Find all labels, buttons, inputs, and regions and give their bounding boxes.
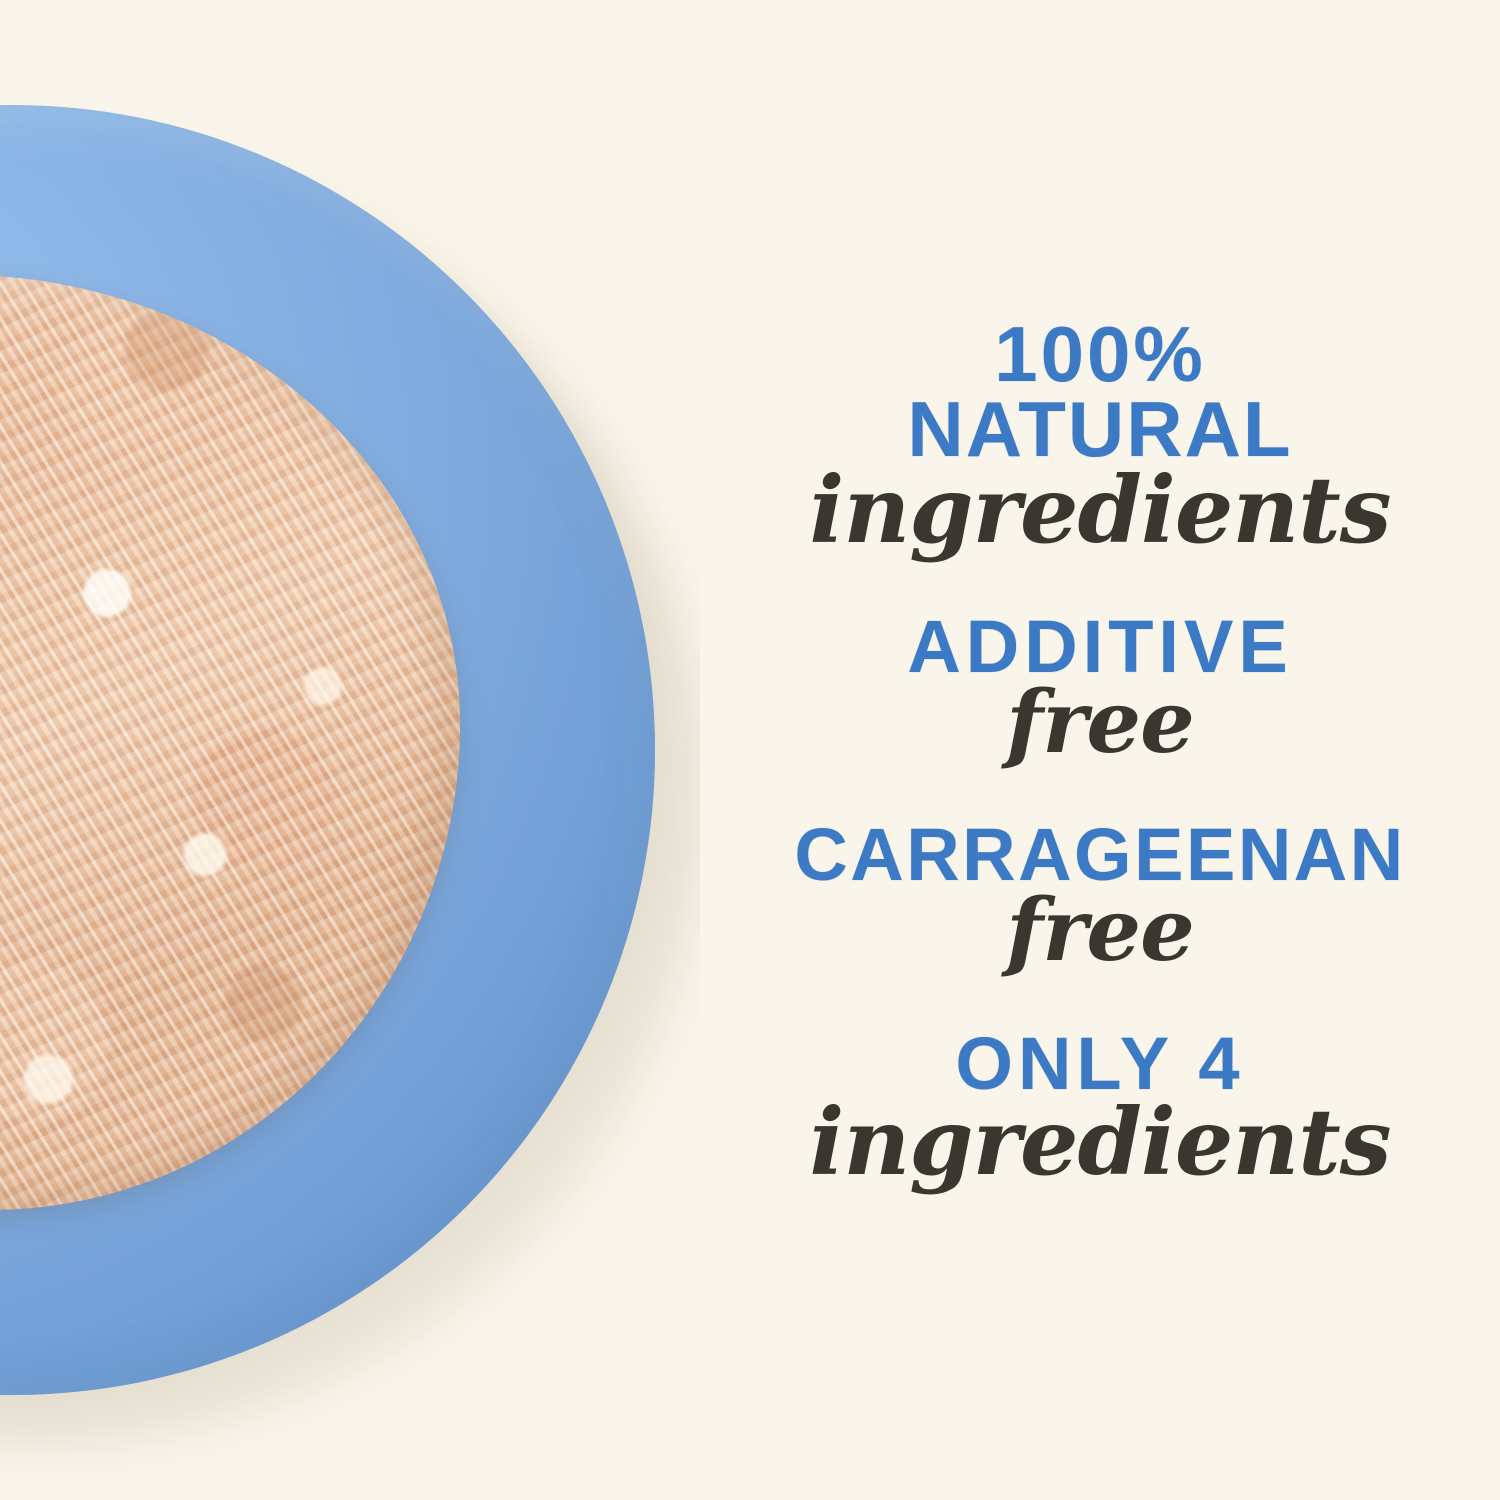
product-claims-graphic: 100% NATURAL ingredients ADDITIVE free C…: [0, 0, 1500, 1500]
claim-script-ingredients-2: ingredients: [700, 1095, 1500, 1191]
claim-carrageenan-free: CARRAGEENAN free: [700, 819, 1500, 975]
claim-script-free: free: [700, 678, 1500, 767]
claim-script-free-2: free: [700, 886, 1500, 975]
claim-additive-free: ADDITIVE free: [700, 611, 1500, 767]
shredded-wet-pet-food: [0, 275, 460, 1210]
claim-natural-ingredients: 100% NATURAL ingredients: [700, 317, 1500, 558]
claim-headline-percent: 100%: [700, 317, 1500, 392]
claim-script-ingredients: ingredients: [700, 463, 1500, 559]
claim-only-4-ingredients: ONLY 4 ingredients: [700, 1028, 1500, 1191]
claims-list: 100% NATURAL ingredients ADDITIVE free C…: [700, 0, 1500, 1500]
food-photo-panel: [0, 0, 700, 1500]
